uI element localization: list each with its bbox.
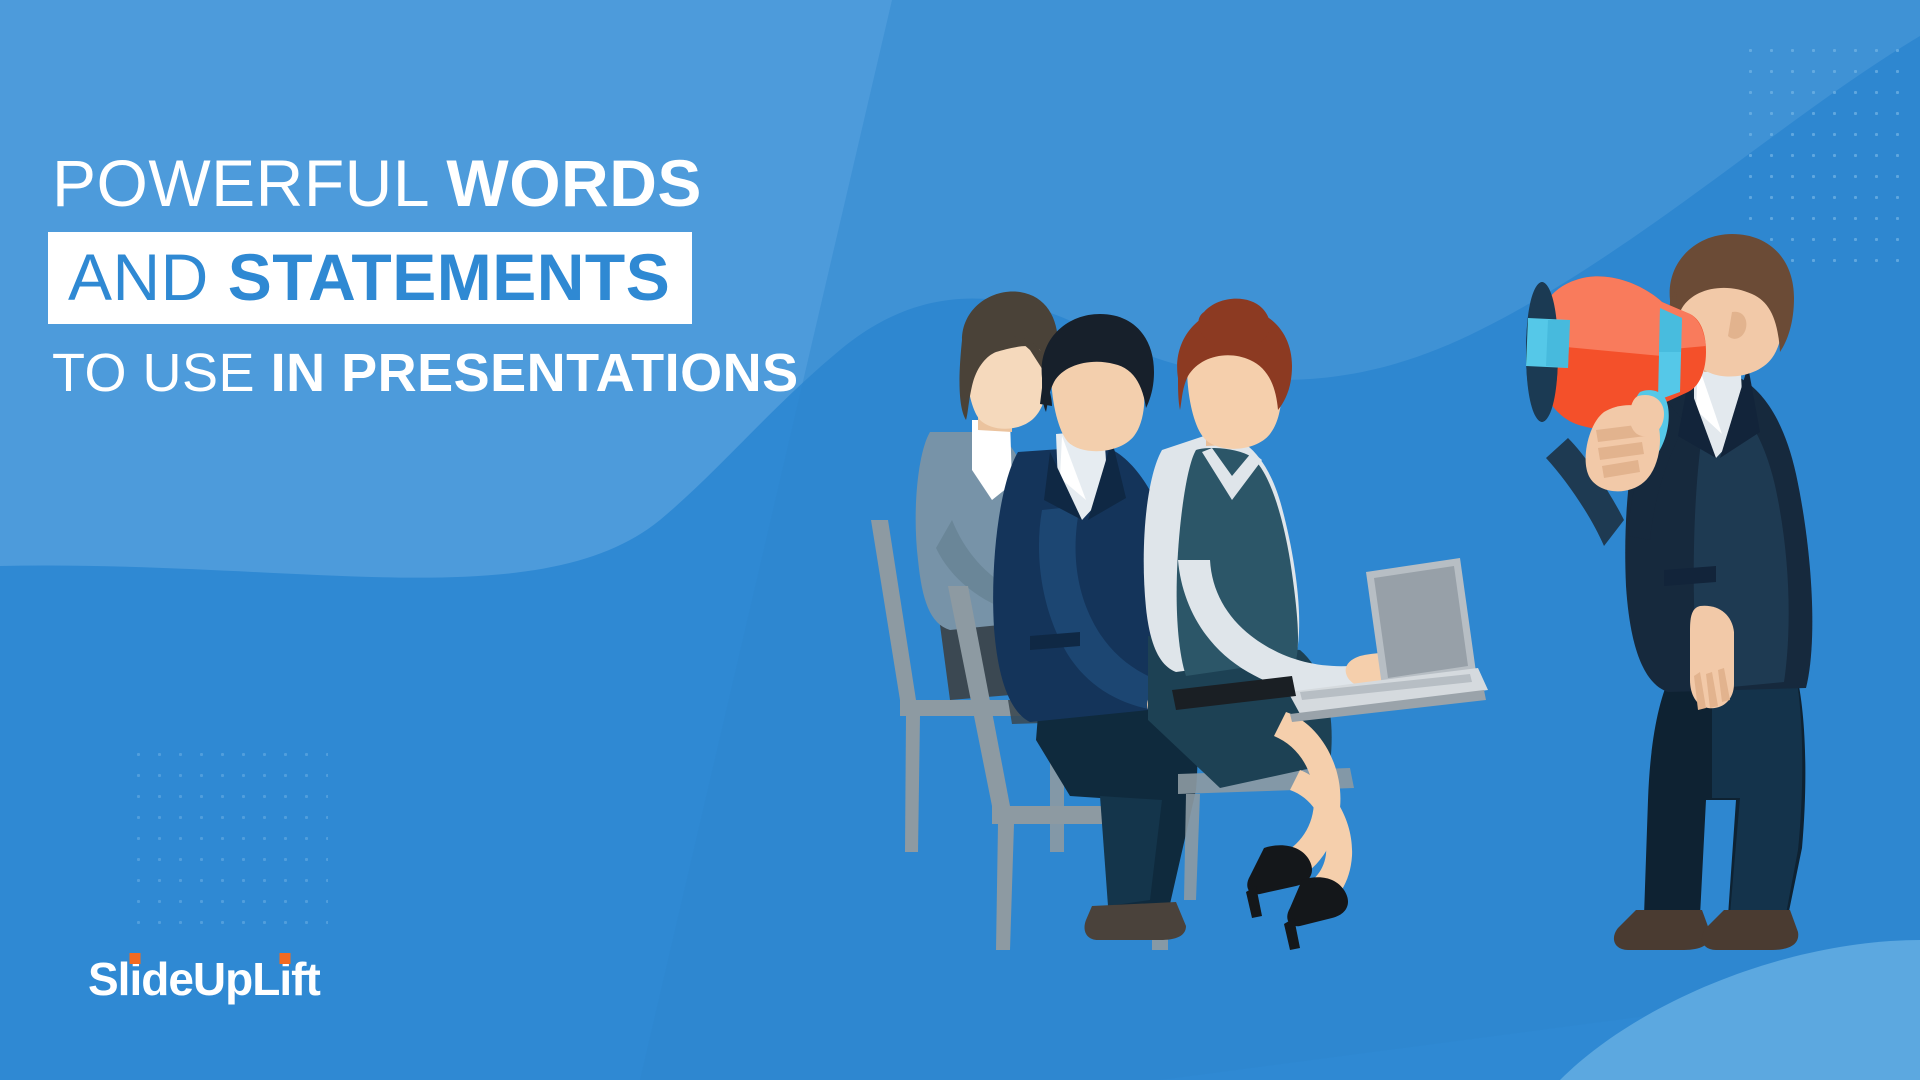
audience-woman-laptop <box>1144 299 1422 950</box>
chair-front <box>1178 768 1354 900</box>
headline-line-1-light: POWERFUL <box>52 146 446 220</box>
dot-grid-top-right <box>1740 40 1900 270</box>
audience-man-middle <box>993 314 1212 940</box>
megaphone <box>1524 276 1706 491</box>
logo-dotted-i-1: i <box>129 956 141 1002</box>
wave-light-bottom-right <box>1560 940 1920 1080</box>
chair-middle <box>948 586 1206 950</box>
slide-canvas: POWERFUL WORDS AND STATEMENTS TO USE IN … <box>0 0 1920 1080</box>
headline-line-1: POWERFUL WORDS <box>48 150 998 216</box>
headline-line-2-light: AND <box>68 240 228 314</box>
laptop <box>1172 558 1488 722</box>
chair-rear <box>871 520 1068 852</box>
headline-line-2: AND STATEMENTS <box>68 244 670 310</box>
logo-dotted-i-2: i <box>279 956 291 1002</box>
logo-part-1: Sl <box>88 953 129 1005</box>
logo-part-2: deUpL <box>141 953 279 1005</box>
speaker-man <box>1546 234 1812 950</box>
headline-line-3-bold: IN PRESENTATIONS <box>271 343 799 403</box>
headline-line-1-bold: WORDS <box>446 146 701 220</box>
logo-part-3: ft <box>291 953 320 1005</box>
headline-line-3-light: TO USE <box>52 343 271 403</box>
dot-grid-bottom-left <box>128 744 328 934</box>
headline-line-2-bold: STATEMENTS <box>228 240 671 314</box>
slideuplift-logo[interactable]: SlideUpLift <box>88 956 320 1002</box>
headline-highlight-band: AND STATEMENTS <box>48 232 692 324</box>
headline-line-3: TO USE IN PRESENTATIONS <box>48 346 998 400</box>
headline-block: POWERFUL WORDS AND STATEMENTS TO USE IN … <box>48 150 998 400</box>
